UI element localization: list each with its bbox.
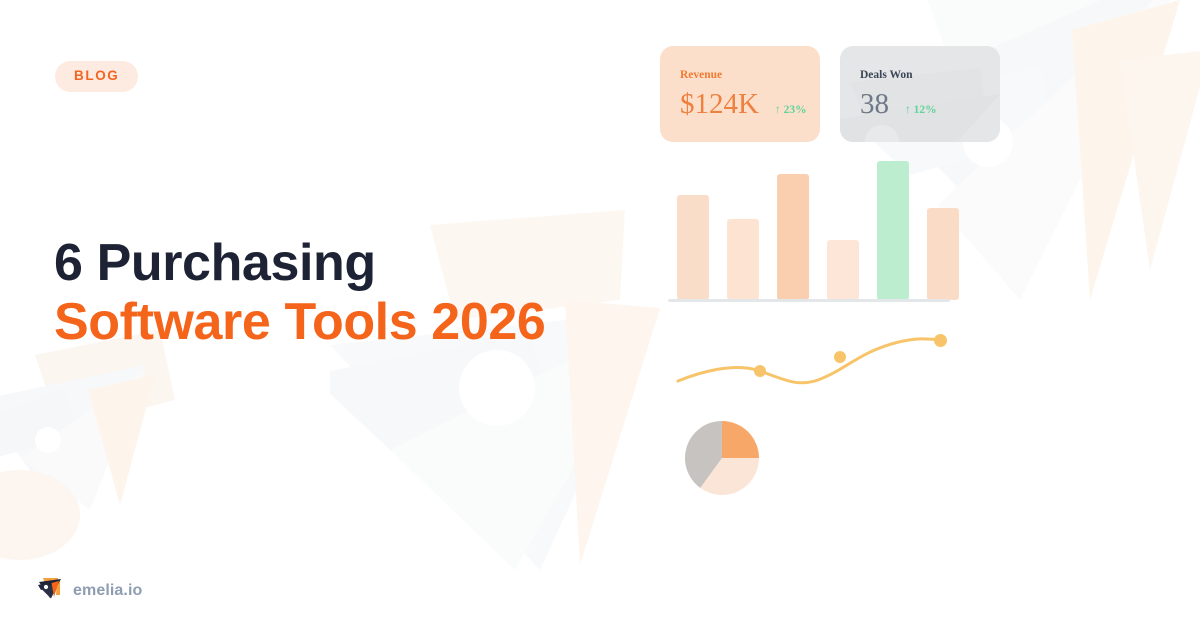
stat-card-label: Revenue bbox=[680, 70, 820, 82]
bar-chart-baseline bbox=[668, 299, 950, 302]
page-title: 6 Purchasing Software Tools 2026 bbox=[54, 234, 545, 353]
page-title-line-1: 6 Purchasing bbox=[54, 234, 545, 293]
page-title-line-2: Software Tools 2026 bbox=[54, 293, 545, 352]
stat-card-delta: ↑ 12% bbox=[905, 104, 937, 116]
bar-chart-bar bbox=[827, 240, 859, 300]
line-chart-dot bbox=[934, 334, 947, 347]
line-chart-path bbox=[678, 339, 941, 383]
line-chart-dot bbox=[754, 365, 766, 377]
og-card-canvas: BLOG 6 Purchasing Software Tools 2026 Re… bbox=[0, 0, 1200, 630]
stat-card-delta-value: 23% bbox=[784, 104, 807, 116]
pie-chart-slice bbox=[685, 421, 722, 488]
stat-card-value: 38 bbox=[860, 90, 889, 119]
decor-blob bbox=[0, 470, 80, 560]
footer-brand[interactable]: emelia.io bbox=[38, 575, 142, 606]
stat-card-delta: ↑ 23% bbox=[775, 104, 807, 116]
line-chart-dot bbox=[834, 351, 846, 363]
pie-chart-slice bbox=[722, 421, 759, 458]
stat-card-deals-won: Deals Won 38 ↑ 12% bbox=[840, 46, 1000, 142]
blog-badge[interactable]: BLOG bbox=[55, 61, 138, 92]
bar-chart-bar bbox=[777, 174, 809, 300]
trend-up-icon: ↑ bbox=[905, 104, 911, 116]
stat-card-value: $124K bbox=[680, 90, 759, 119]
stat-card-revenue: Revenue $124K ↑ 23% bbox=[660, 46, 820, 142]
bar-chart-bar bbox=[727, 219, 759, 300]
brand-name: emelia.io bbox=[73, 582, 142, 600]
stat-card-delta-value: 12% bbox=[914, 104, 937, 116]
stat-card-label: Deals Won bbox=[860, 70, 1000, 82]
paper-plane-watermark-icon-center bbox=[330, 170, 800, 570]
bar-chart-bar bbox=[927, 208, 959, 300]
bar-chart-bar bbox=[677, 195, 709, 300]
trend-up-icon: ↑ bbox=[775, 104, 781, 116]
bar-chart-bar bbox=[877, 161, 909, 301]
paper-plane-logo-icon bbox=[38, 575, 64, 606]
pie-chart-slice bbox=[700, 458, 759, 495]
